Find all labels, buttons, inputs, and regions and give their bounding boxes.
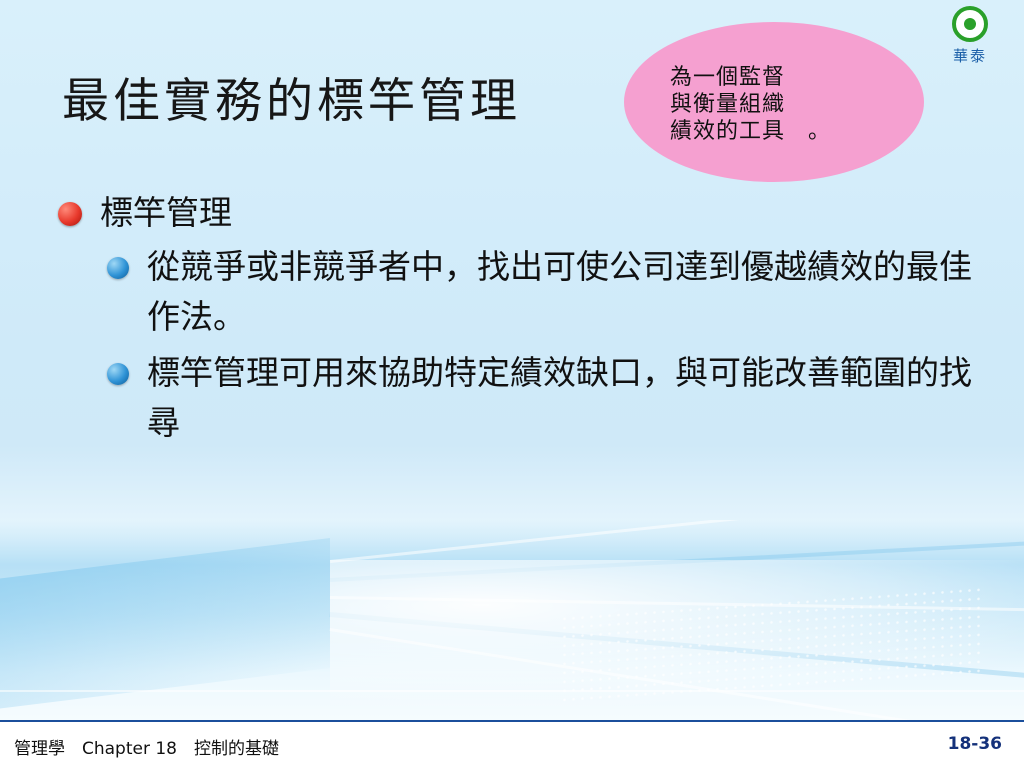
bullet-item-level2: 從競爭或非競爭者中，找出可使公司達到優越績效的最佳作法。 (55, 242, 975, 342)
bullet-text: 標竿管理可用來協助特定績效缺口，與可能改善範圍的找尋 (147, 353, 972, 442)
blue-bullet-icon (107, 363, 129, 385)
callout-line: 績效的工具 。 (670, 118, 885, 145)
slide-canvas: 華泰 最佳實務的標竿管理 為一個監督 與衡量組織 績效的工具 。 標竿管理 從競… (0, 0, 1024, 768)
bullet-item-level2: 標竿管理可用來協助特定績效缺口，與可能改善範圍的找尋 (55, 348, 975, 448)
bullet-text: 從競爭或非競爭者中，找出可使公司達到優越績效的最佳作法。 (147, 247, 972, 336)
callout-line: 與衡量組織 (670, 91, 885, 118)
blue-bullet-icon (107, 257, 129, 279)
footer-page-number: 18-36 (948, 734, 1002, 754)
bullet-item-level1: 標竿管理 (55, 190, 975, 236)
footer-course-label: 管理學 Chapter 18 控制的基礎 (14, 734, 279, 759)
background-glow (330, 560, 1024, 710)
ring-logo-icon (952, 6, 988, 42)
callout-balloon: 為一個監督 與衡量組織 績效的工具 。 (624, 22, 924, 182)
brand-logo: 華泰 (924, 6, 1016, 78)
bullet-text: 標竿管理 (100, 193, 232, 232)
callout-text: 為一個監督 與衡量組織 績效的工具 。 (670, 64, 885, 145)
brand-logo-label: 華泰 (924, 45, 1016, 66)
page-title: 最佳實務的標竿管理 (62, 62, 521, 131)
slide-footer: 管理學 Chapter 18 控制的基礎 18-36 (0, 720, 1024, 768)
callout-line: 為一個監督 (670, 64, 885, 91)
background-line (0, 690, 1024, 692)
red-bullet-icon (58, 202, 82, 226)
content-body: 標竿管理 從競爭或非競爭者中，找出可使公司達到優越績效的最佳作法。 標竿管理可用… (55, 190, 975, 454)
